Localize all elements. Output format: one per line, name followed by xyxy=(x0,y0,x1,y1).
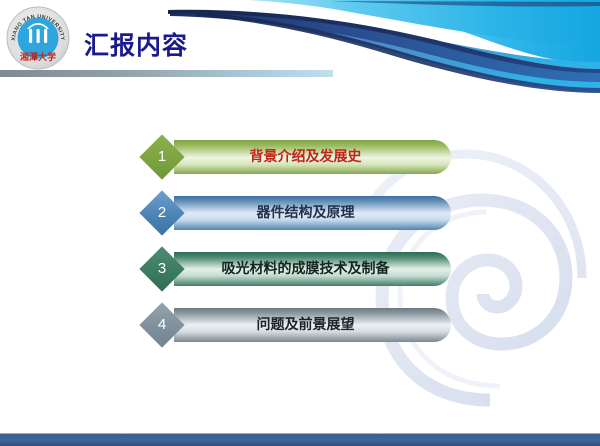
list-item[interactable]: 器件结构及原理 2 xyxy=(146,196,451,230)
content-label: 吸光材料的成膜技术及制备 xyxy=(174,252,437,286)
list-item[interactable]: 背景介绍及发展史 1 xyxy=(146,140,451,174)
list-item[interactable]: 吸光材料的成膜技术及制备 3 xyxy=(146,252,451,286)
contents-list: 背景介绍及发展史 1 器件结构及原理 2 吸光材料的成膜技术及制备 3 问题及前… xyxy=(0,0,600,446)
content-label: 问题及前景展望 xyxy=(174,308,437,342)
bottom-bar xyxy=(0,434,600,446)
content-label: 背景介绍及发展史 xyxy=(174,140,437,174)
list-item[interactable]: 问题及前景展望 4 xyxy=(146,308,451,342)
step-number: 1 xyxy=(146,141,178,173)
step-number: 4 xyxy=(146,309,178,341)
step-number: 3 xyxy=(146,253,178,285)
content-bar[interactable]: 背景介绍及发展史 xyxy=(174,140,451,174)
content-bar[interactable]: 吸光材料的成膜技术及制备 xyxy=(174,252,451,286)
step-number: 2 xyxy=(146,197,178,229)
content-bar[interactable]: 问题及前景展望 xyxy=(174,308,451,342)
content-label: 器件结构及原理 xyxy=(174,196,437,230)
content-bar[interactable]: 器件结构及原理 xyxy=(174,196,451,230)
presentation-slide: XIANG TAN UNIVERSITY 湘潭大学 汇报内容 背景介绍及发展史 … xyxy=(0,0,600,446)
